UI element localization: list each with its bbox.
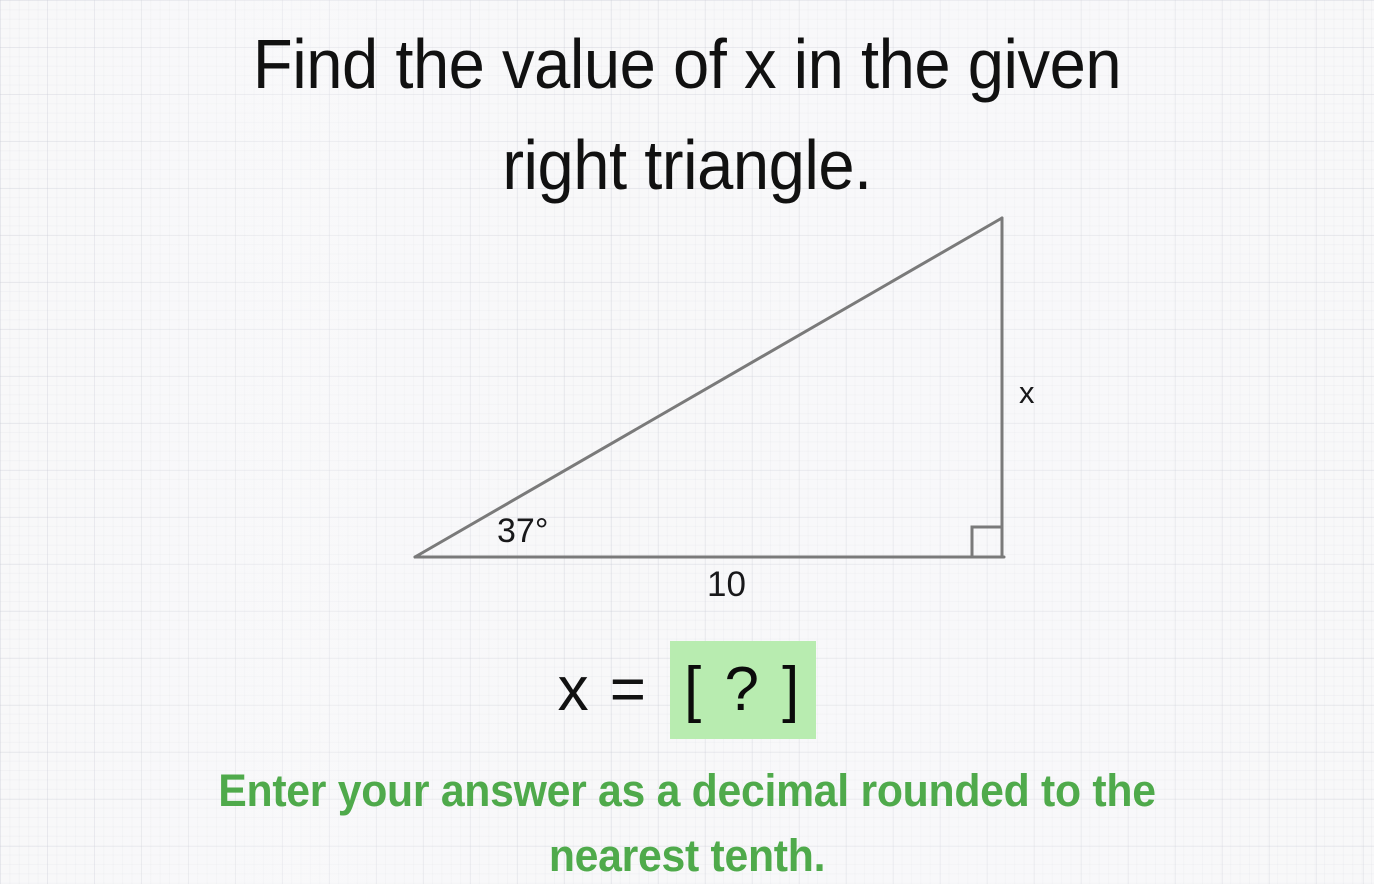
base-length-label: 10 [707,565,746,605]
title-line-1: Find the value of x in the given [48,14,1326,115]
problem-canvas: Find the value of x in the given right t… [0,0,1374,884]
right-angle-marker-icon [972,527,1002,557]
title-line-2: right triangle. [48,115,1326,216]
page-title: Find the value of x in the given right t… [0,14,1374,216]
instruction-line-1: Enter your answer as a decimal rounded t… [34,758,1339,823]
answer-row: x = [ ? ] [0,640,1374,740]
triangle-hypotenuse [415,218,1002,557]
answer-equation-lhs: x = [558,640,670,740]
answer-input-blank[interactable]: [ ? ] [670,641,816,739]
angle-label-37deg: 37° [497,512,548,551]
instruction-line-2: nearest tenth. [34,823,1339,884]
instruction-text: Enter your answer as a decimal rounded t… [0,758,1374,884]
unknown-side-label-x: x [1019,375,1035,411]
